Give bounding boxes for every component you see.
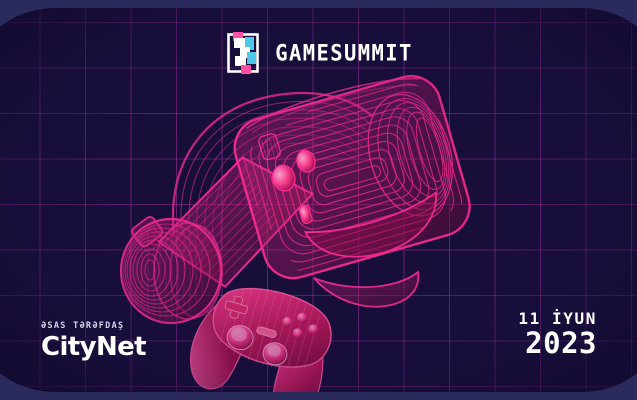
event-date-year: 2023 [518,329,597,358]
artwork-vr-headset-gamepad [96,66,496,392]
partner-name-citynet: CityNet [41,334,146,360]
partner-label: ƏSAS TƏRƏFDAŞ [41,321,146,331]
partner-block: ƏSAS TƏRƏFDAŞ CityNet [41,321,146,360]
vr-headset-visor [226,66,476,285]
vr-headset-nose-piece [314,272,418,307]
gamesummit-s-logo-icon [224,32,262,74]
headphone-earcup-icon [121,219,222,323]
brand-header: GAMESUMMIT [0,32,637,74]
event-date-block: 11 İYUN 2023 [518,310,597,358]
brand-wordmark: GAMESUMMIT [275,42,412,64]
crt-screen-panel: GAMESUMMIT ƏSAS TƏRƏFDAŞ CityNet 11 İYUN… [0,8,637,392]
event-poster: GAMESUMMIT ƏSAS TƏRƏFDAŞ CityNet 11 İYUN… [0,0,637,400]
